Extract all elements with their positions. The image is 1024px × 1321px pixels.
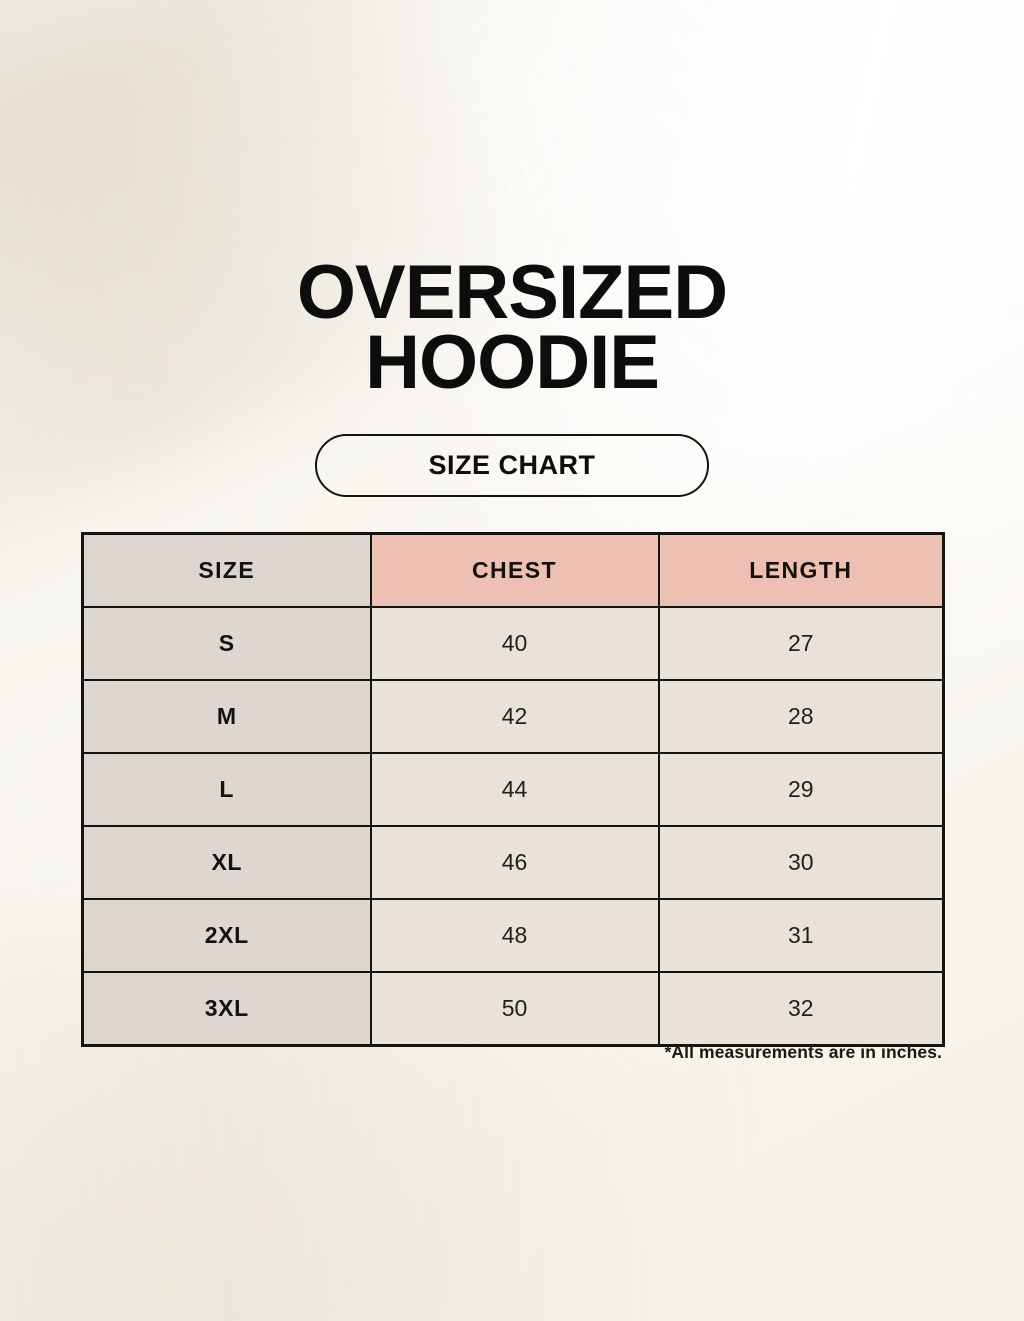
size-chart-table: SIZE CHEST LENGTH S 40 27 M 42 28 xyxy=(81,532,945,1047)
cell-size: L xyxy=(83,753,371,826)
cell-length: 28 xyxy=(659,680,944,753)
page-title-line-1: OVERSIZED xyxy=(0,258,1024,328)
column-header-size: SIZE xyxy=(83,534,371,608)
table-row: M 42 28 xyxy=(83,680,944,753)
cell-length: 29 xyxy=(659,753,944,826)
page-title-line-2: HOODIE xyxy=(0,328,1024,398)
table-row: L 44 29 xyxy=(83,753,944,826)
cell-chest: 40 xyxy=(371,607,659,680)
size-chart-badge: SIZE CHART xyxy=(315,434,709,497)
cell-chest: 44 xyxy=(371,753,659,826)
cell-chest: 42 xyxy=(371,680,659,753)
cell-length: 27 xyxy=(659,607,944,680)
table-row: S 40 27 xyxy=(83,607,944,680)
cell-size: 3XL xyxy=(83,972,371,1046)
cell-chest: 46 xyxy=(371,826,659,899)
table-body: S 40 27 M 42 28 L 44 29 XL xyxy=(83,607,944,1046)
measurements-footnote: *All measurements are in inches. xyxy=(81,1042,942,1063)
size-chart-badge-label: SIZE CHART xyxy=(429,450,596,481)
table-row: 2XL 48 31 xyxy=(83,899,944,972)
cell-size: M xyxy=(83,680,371,753)
page-title: OVERSIZED HOODIE xyxy=(0,258,1024,398)
cell-size: S xyxy=(83,607,371,680)
cell-size: XL xyxy=(83,826,371,899)
table-row: 3XL 50 32 xyxy=(83,972,944,1046)
cell-size: 2XL xyxy=(83,899,371,972)
table-header-row: SIZE CHEST LENGTH xyxy=(83,534,944,608)
size-chart-page: OVERSIZED HOODIE SIZE CHART SIZE CHEST xyxy=(0,0,1024,1321)
table-header: SIZE CHEST LENGTH xyxy=(83,534,944,608)
cell-length: 32 xyxy=(659,972,944,1046)
size-chart-table-container: SIZE CHEST LENGTH S 40 27 M 42 28 xyxy=(81,532,942,1047)
size-chart-badge-container: SIZE CHART xyxy=(0,434,1024,497)
column-header-chest: CHEST xyxy=(371,534,659,608)
cell-chest: 50 xyxy=(371,972,659,1046)
table-row: XL 46 30 xyxy=(83,826,944,899)
column-header-length: LENGTH xyxy=(659,534,944,608)
cell-length: 31 xyxy=(659,899,944,972)
cell-length: 30 xyxy=(659,826,944,899)
cell-chest: 48 xyxy=(371,899,659,972)
